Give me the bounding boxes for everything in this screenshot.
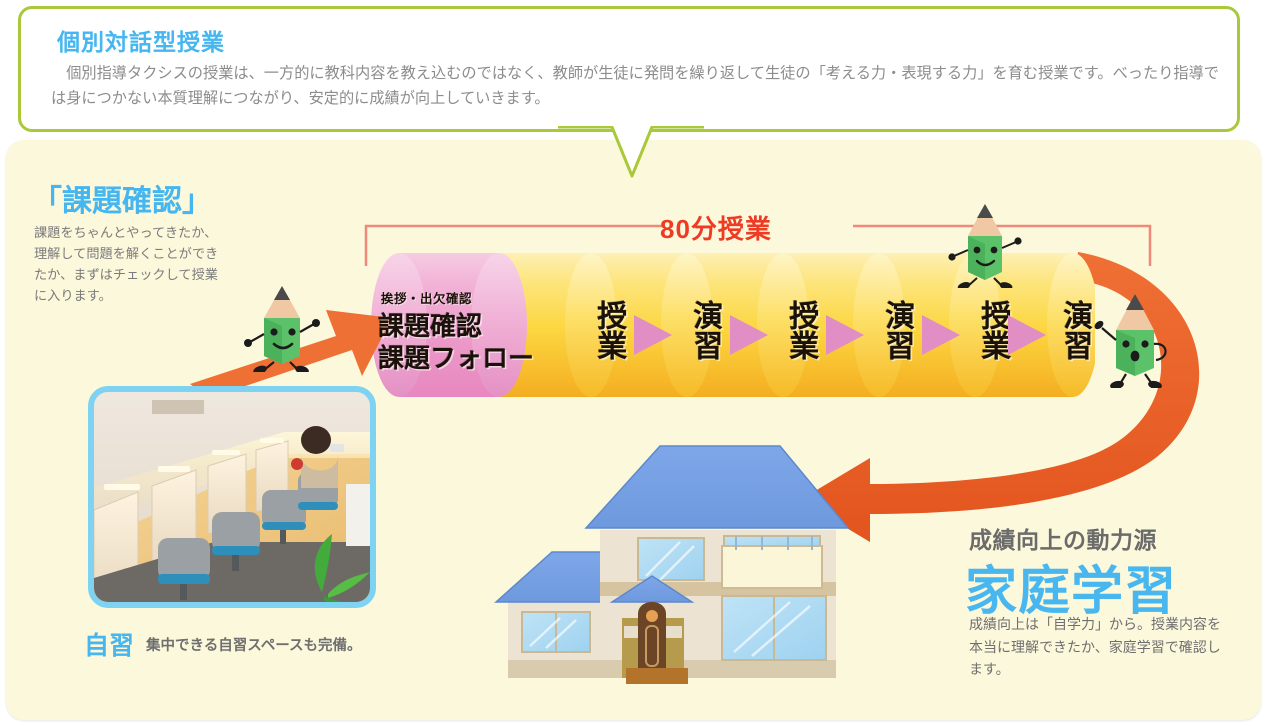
house-illustration (490, 430, 870, 698)
home-study-body: 成績向上は「自学力」から。授業内容を本当に理解できたか、家庭学習で確認します。 (969, 613, 1223, 681)
separator-triangle-4 (922, 315, 960, 355)
duration-label: 80分授業 (660, 209, 772, 246)
task-check-body: 課題をちゃんとやってきたか、理解して問題を解くことができたか、まずはチェックして… (34, 222, 220, 306)
pencil-mascot-right-icon (1092, 282, 1178, 388)
callout-tail (556, 126, 706, 182)
task-check-heading: 「課題確認」 (32, 176, 212, 220)
intro-line2: 課題フォロー (378, 338, 534, 375)
separator-triangle-2 (730, 315, 768, 355)
self-study-title: 自習 (84, 626, 134, 662)
pencil-mascot-left-icon (236, 276, 328, 372)
intro-small-label: 挨拶・出欠確認 (381, 288, 472, 307)
self-study-photo (88, 386, 376, 608)
separator-triangle-1 (634, 315, 672, 355)
self-study-caption: 集中できる自習スペースも完備。 (146, 634, 361, 655)
infographic-root: 80分授業 (0, 0, 1267, 727)
intro-title: 個別対話型授業 (57, 23, 225, 57)
separator-triangle-3 (826, 315, 864, 355)
intro-body: 個別指導タクシスの授業は、一方的に教科内容を教え込むのではなく、教師が生徒に発問… (51, 61, 1219, 111)
separator-triangle-5 (1008, 315, 1046, 355)
intro-callout: 個別対話型授業 個別指導タクシスの授業は、一方的に教科内容を教え込むのではなく、… (18, 6, 1240, 132)
pencil-mascot-top-icon (944, 196, 1026, 288)
